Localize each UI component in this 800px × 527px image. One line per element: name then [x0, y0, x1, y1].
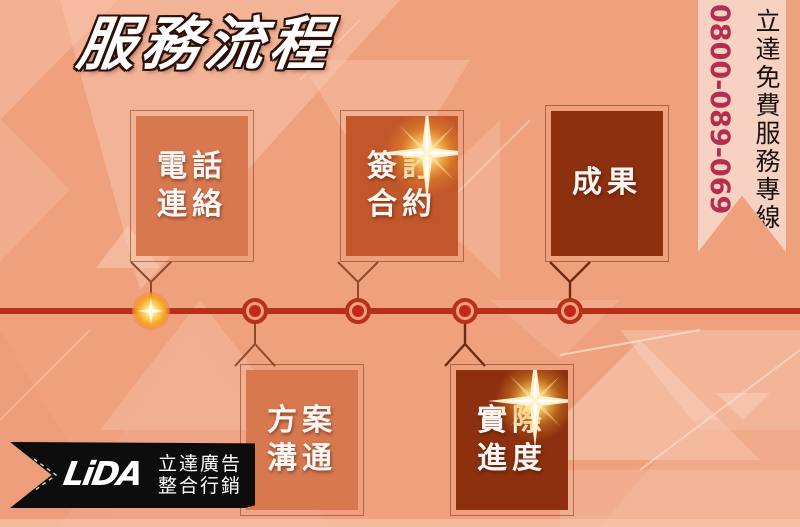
page-title: 服務流程 — [74, 14, 339, 75]
step-card-3-body: 簽訂 合約 — [346, 116, 458, 256]
step-card-5-body: 成果 — [551, 111, 663, 256]
timeline-line — [0, 308, 800, 314]
timeline-node-1[interactable] — [132, 292, 170, 330]
step-card-2-label: 方案 溝通 — [267, 402, 337, 479]
step-card-5[interactable]: 成果 — [545, 105, 669, 262]
step-card-3[interactable]: 簽訂 合約 — [340, 110, 464, 262]
timeline-node-5[interactable] — [557, 298, 583, 324]
step-card-1[interactable]: 電話 連絡 — [130, 110, 254, 262]
step-card-4-body: 實際 進度 — [456, 370, 568, 510]
logo-company-name: 立達廣告 整合行銷 — [158, 453, 242, 497]
step-card-1-label: 電話 連絡 — [157, 148, 227, 225]
step-card-5-label: 成果 — [572, 164, 642, 202]
step-card-3-label: 簽訂 合約 — [367, 148, 437, 225]
timeline-node-4[interactable] — [452, 298, 478, 324]
step-card-2-body: 方案 溝通 — [246, 370, 358, 510]
step-card-4-label: 實際 進度 — [477, 402, 547, 479]
hotline-heading: 立達免費服務專線 — [748, 8, 784, 232]
sparkle-star-icon — [136, 296, 166, 326]
step-card-4[interactable]: 實際 進度 — [450, 364, 574, 516]
timeline-node-3[interactable] — [345, 298, 371, 324]
timeline-node-2[interactable] — [242, 298, 268, 324]
poster-canvas: 服務流程 立達免費服務專線 0800-089-069 電話 連絡 — [0, 0, 800, 527]
step-card-1-body: 電話 連絡 — [136, 116, 248, 256]
step-card-2[interactable]: 方案 溝通 — [240, 364, 364, 516]
hotline-phone-number: 0800-089-069 — [704, 4, 735, 214]
logo-wordmark: LiDA — [61, 457, 144, 490]
